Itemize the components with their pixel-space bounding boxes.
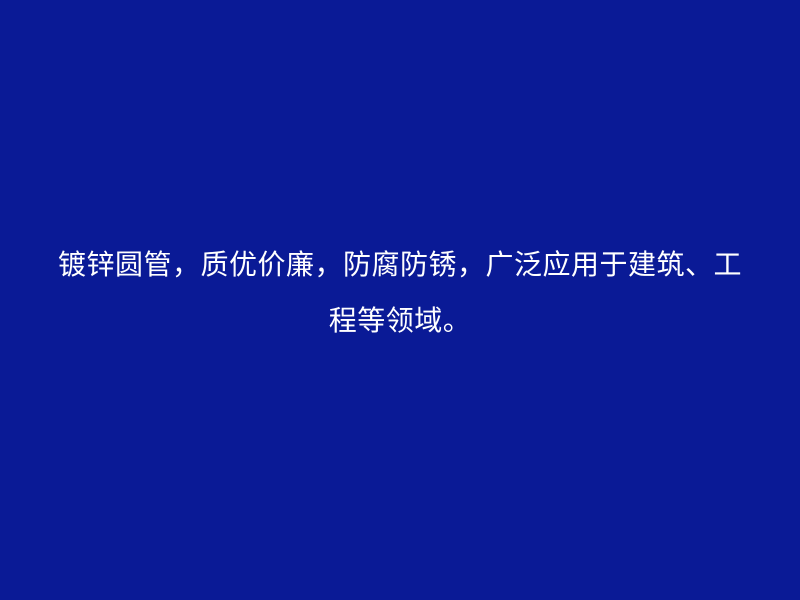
caption-block: 镀锌圆管，质优价廉，防腐防锈，广泛应用于建筑、工程等领域。 [50,237,750,349]
product-caption-text: 镀锌圆管，质优价廉，防腐防锈，广泛应用于建筑、工程等领域。 [54,237,746,349]
slide-canvas: 镀锌圆管，质优价廉，防腐防锈，广泛应用于建筑、工程等领域。 [0,0,800,600]
